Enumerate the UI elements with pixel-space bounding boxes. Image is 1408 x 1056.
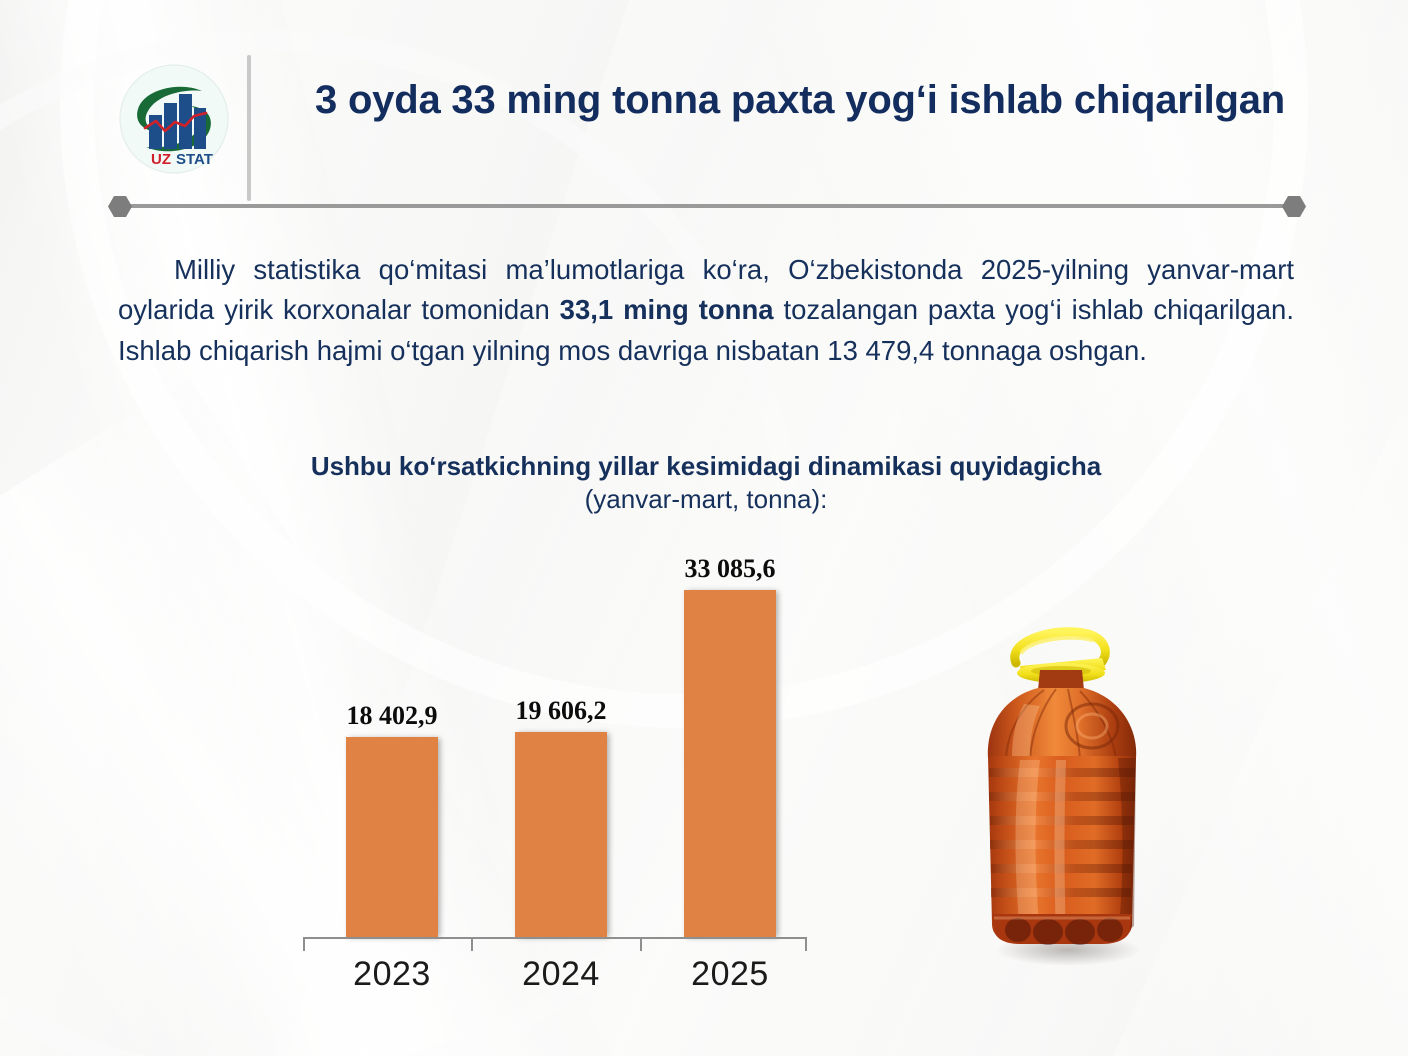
x-label-2023: 2023	[322, 955, 462, 994]
x-axis-tick-2	[640, 937, 642, 951]
title-divider	[247, 55, 251, 201]
logo-text-stat: STAT	[176, 151, 213, 168]
header: UZ STAT 3 oyda 33 ming tonna paxta yog‘i…	[0, 0, 1408, 215]
page-title: 3 oyda 33 ming tonna paxta yog‘i ishlab …	[270, 73, 1330, 127]
x-axis-line	[303, 937, 807, 939]
body-paragraph: Milliy statistika qo‘mitasi ma’lumotlari…	[118, 250, 1294, 371]
hexagon-cap-right-icon	[1282, 196, 1306, 217]
bar-value-label-2025: 33 085,6	[660, 554, 800, 584]
bar-2023	[346, 737, 438, 937]
x-axis-tick-end	[805, 937, 807, 951]
bar-value-label-2024: 19 606,2	[491, 696, 631, 726]
chart-x-axis	[303, 937, 807, 951]
body-text-highlight: 33,1 ming tonna	[560, 294, 774, 325]
chart-caption-line-1: Ushbu ko‘rsatkichning yillar kesimidagi …	[118, 450, 1294, 483]
x-axis-tick-start	[303, 937, 305, 951]
chart-x-labels: 2023 2024 2025	[300, 955, 810, 1003]
bar-2025	[684, 590, 776, 937]
bar-value-label-2023: 18 402,9	[322, 701, 462, 731]
chart-caption-line-2: (yanvar-mart, tonna):	[118, 483, 1294, 516]
header-rule-line	[118, 204, 1290, 208]
x-label-2025: 2025	[660, 955, 800, 994]
cottonseed-oil-bottle-image	[960, 618, 1160, 968]
bar-chart: 18 402,9 19 606,2 33 085,6 2023 2024 202…	[300, 545, 820, 995]
header-rule	[0, 196, 1408, 216]
x-axis-tick-1	[471, 937, 473, 951]
chart-plot-area: 18 402,9 19 606,2 33 085,6	[300, 545, 810, 937]
x-label-2024: 2024	[491, 955, 631, 994]
bar-2024	[515, 732, 607, 937]
logo-text-uz: UZ	[151, 151, 171, 168]
chart-caption: Ushbu ko‘rsatkichning yillar kesimidagi …	[118, 450, 1294, 517]
hexagon-cap-left-icon	[108, 196, 132, 217]
uzstat-logo: UZ STAT	[118, 63, 230, 175]
